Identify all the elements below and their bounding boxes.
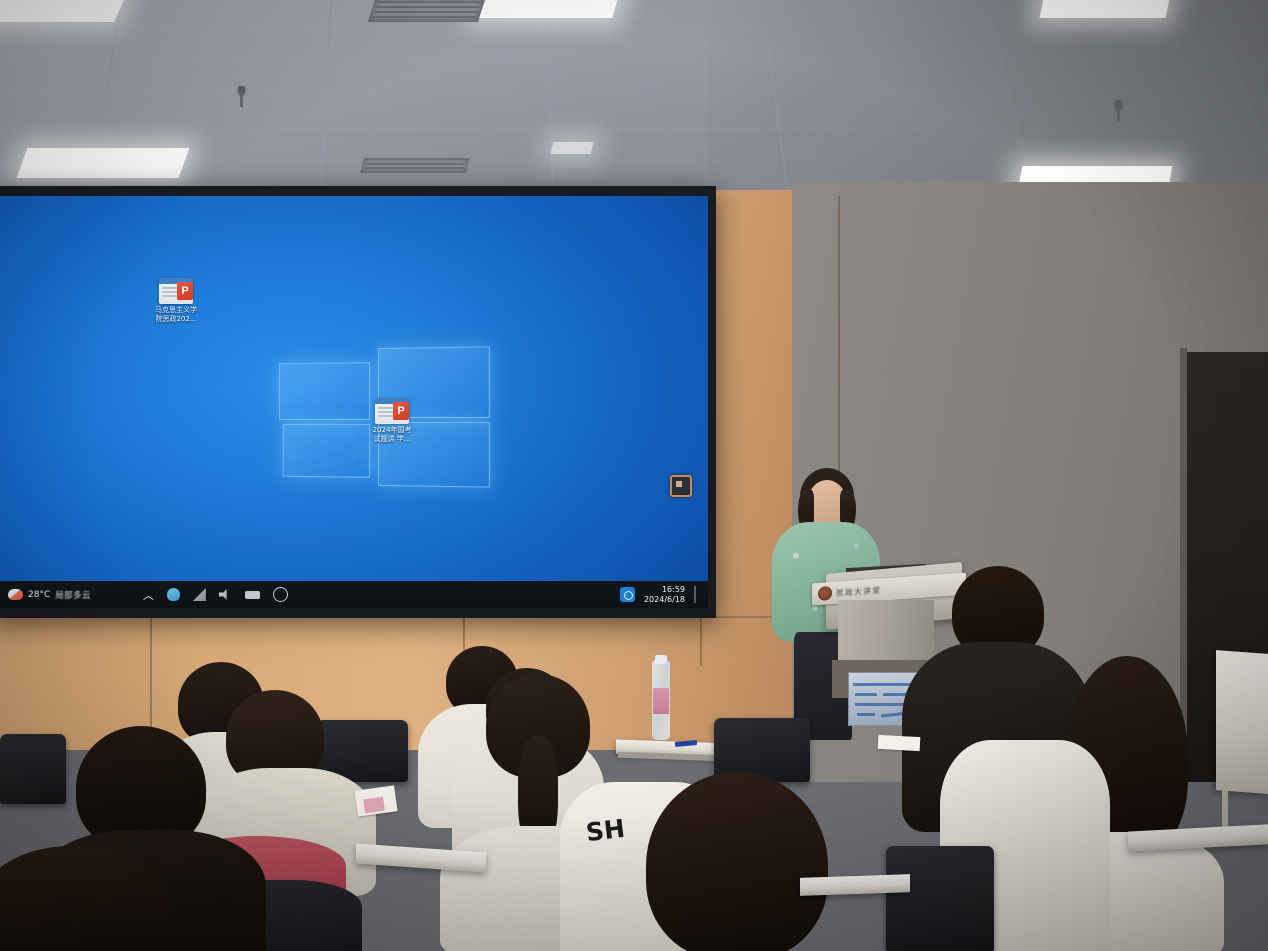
presentation-file-icon: P [375, 398, 409, 424]
student-hair [0, 846, 170, 951]
classroom-photo: P 马克思主义学 院思政202... P 2024年国考 试题讲 学... 28… [0, 0, 1268, 951]
powerpoint-badge: P [393, 402, 409, 420]
bottle-label [653, 688, 669, 714]
desktop-icon-2-label: 2024年国考 试题讲 学... [346, 426, 438, 443]
flipchart-leg [1222, 790, 1228, 830]
chevron-up-icon[interactable]: ︿ [143, 587, 154, 603]
network-icon[interactable] [193, 588, 206, 601]
presentation-file-icon: P [159, 278, 193, 304]
clock-date: 2024/6/18 [644, 595, 685, 605]
ceiling-light [474, 0, 619, 18]
desktop-icon-1[interactable]: P 马克思主义学 院思政202... [130, 278, 222, 323]
taskbar-tray: ︿ [143, 587, 288, 603]
app-icon[interactable] [670, 475, 692, 497]
student [620, 772, 850, 951]
onedrive-icon[interactable] [167, 588, 180, 601]
taskbar-clock[interactable]: 16:59 2024/6/18 [644, 585, 685, 605]
show-desktop-button[interactable] [694, 586, 696, 603]
student [0, 846, 180, 951]
taskbar: 28°C 局部多云 ︿ 16:59 2024/6/18 [0, 581, 708, 608]
ceiling-light [0, 0, 126, 22]
chair [886, 846, 994, 951]
desktop-icon-2[interactable]: P 2024年国考 试题讲 学... [346, 398, 438, 443]
ceiling-light [17, 148, 190, 178]
paper-sheet [878, 735, 921, 751]
ceiling-light [1039, 0, 1170, 18]
sprinkler-head [238, 86, 245, 95]
taskbar-weather[interactable]: 28°C 局部多云 [0, 589, 91, 601]
desktop-icon-1-label: 马克思主义学 院思政202... [130, 306, 222, 323]
cortana-icon[interactable] [620, 587, 635, 602]
weather-desc: 局部多云 [55, 589, 91, 601]
sprinkler-head [1115, 100, 1122, 109]
display-screen[interactable]: P 马克思主义学 院思政202... P 2024年国考 试题讲 学... 28… [0, 196, 708, 608]
podium-plaque-text: 思政大讲堂 [836, 584, 882, 598]
clock-time: 16:59 [644, 585, 685, 595]
air-vent [368, 0, 486, 22]
air-vent [360, 158, 470, 173]
bottle-cap [655, 655, 667, 664]
action-center-icon[interactable] [273, 587, 288, 602]
volume-icon[interactable] [219, 588, 232, 601]
flipchart-whiteboard [1216, 650, 1268, 794]
powerpoint-badge: P [177, 282, 193, 300]
student-hair [646, 772, 828, 951]
taskbar-right: 16:59 2024/6/18 [620, 585, 708, 605]
weather-temp: 28°C [28, 590, 50, 600]
ceiling [0, 0, 1268, 212]
paper-sheet-pink [363, 797, 385, 814]
desk [800, 874, 910, 896]
battery-icon[interactable] [245, 591, 260, 599]
weather-icon [8, 589, 23, 600]
ceiling-light [551, 142, 594, 154]
university-seal-icon [818, 586, 832, 601]
